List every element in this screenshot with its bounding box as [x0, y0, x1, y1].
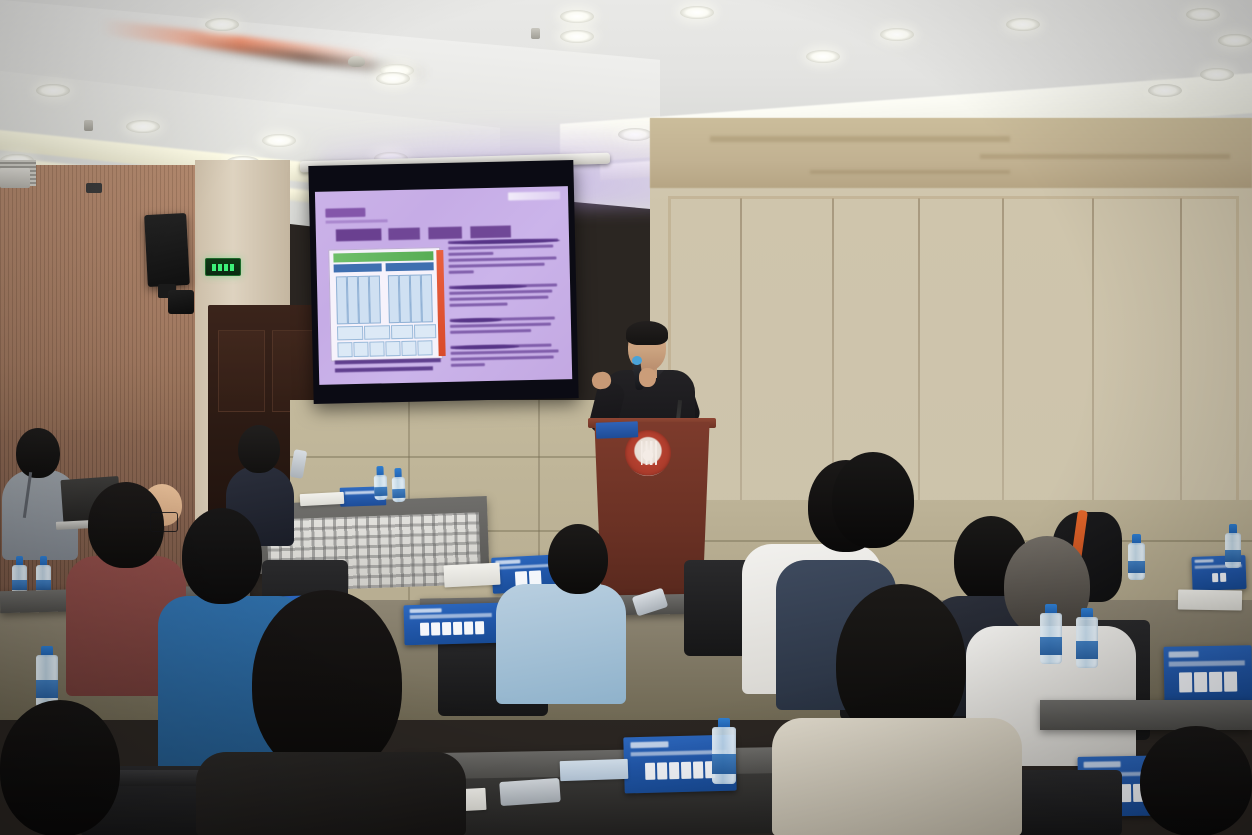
sprinkler-head	[84, 120, 93, 131]
downlight	[560, 10, 594, 23]
marble-vein	[710, 136, 1010, 142]
downlight	[205, 18, 239, 31]
marble-inset-frame	[668, 196, 1239, 532]
placard-chongqing-jiaotong	[1164, 645, 1252, 705]
podium-nameplate	[596, 421, 639, 438]
placard-org-line	[410, 613, 493, 618]
diagram-block	[414, 324, 436, 338]
placard-logo	[409, 608, 442, 613]
audience-head	[16, 428, 60, 478]
bottle-label	[392, 489, 405, 498]
projector-screen	[308, 160, 578, 404]
bottle-label	[1225, 550, 1241, 562]
diagram-block	[391, 325, 413, 339]
audience-torso	[496, 584, 626, 704]
bottle-label	[712, 754, 736, 773]
water-bottle[interactable]	[1225, 524, 1241, 568]
downlight	[1218, 34, 1252, 47]
downlight	[1006, 18, 1040, 31]
paper-notepad	[300, 492, 345, 506]
slide-headline	[336, 225, 511, 241]
placard-org-line	[1169, 660, 1245, 666]
diagram-icon-block	[369, 341, 384, 356]
downlight	[880, 28, 914, 41]
bottle-label	[36, 580, 51, 591]
audience-head	[238, 425, 280, 473]
downlight	[126, 120, 160, 133]
bottle-body	[712, 727, 736, 784]
bottle-body	[1128, 543, 1145, 580]
bottle-body	[1225, 533, 1241, 568]
downlight	[36, 84, 70, 97]
audience-head	[182, 508, 262, 604]
bottle-label	[36, 680, 58, 698]
water-bottle[interactable]	[1076, 608, 1098, 668]
slide-architecture-diagram	[328, 247, 443, 362]
paper-notepad	[560, 759, 629, 781]
diagram-icon-block	[385, 341, 400, 356]
paper-notepad	[443, 563, 500, 588]
water-bottle[interactable]	[1040, 604, 1062, 664]
eyeglasses	[150, 512, 178, 532]
downlight	[262, 134, 296, 147]
placard-logo	[1084, 762, 1121, 769]
emergency-exit-sign	[205, 258, 241, 276]
wall-speaker	[144, 213, 190, 287]
diagram-icon-block	[401, 341, 416, 356]
diagram-icon-block	[337, 342, 352, 357]
audience-head	[548, 524, 608, 594]
audience-head	[252, 590, 402, 776]
marble-vein	[980, 154, 1230, 159]
downlight	[680, 6, 714, 19]
water-bottle[interactable]	[1128, 534, 1145, 580]
smoke-detector	[348, 56, 365, 67]
paper-notepad	[1178, 589, 1242, 610]
slide-university-logo	[508, 191, 560, 200]
bottle-label	[1128, 561, 1145, 574]
bottle-label	[12, 580, 27, 591]
placard-meishu-xueyuan	[403, 603, 500, 645]
conference-hall-photo	[0, 0, 1252, 835]
diagram-block	[337, 326, 363, 341]
bottle-label	[1076, 641, 1098, 658]
downlight	[1200, 68, 1234, 81]
placard-logo	[1195, 559, 1213, 563]
diagram-subheader-left	[334, 263, 382, 272]
diagram-subheader-right	[386, 262, 434, 271]
placard-logo	[630, 741, 668, 748]
slide-title-underline	[326, 219, 388, 223]
diagram-icon-block	[353, 342, 368, 357]
water-bottle[interactable]	[373, 466, 387, 500]
marble-header-band	[650, 118, 1252, 188]
presenter-hair	[626, 321, 668, 345]
water-bottle[interactable]	[391, 468, 405, 502]
presenter-right-hand	[639, 368, 656, 387]
wall-speaker-secondary	[168, 290, 194, 314]
sprinkler-head	[531, 28, 540, 39]
bottle-label	[374, 487, 387, 496]
bottle-body	[374, 475, 388, 500]
placard-logo	[1169, 651, 1199, 657]
slide-bullet-column	[448, 238, 563, 370]
foreground-table-right	[1040, 700, 1252, 730]
diagram-accent-bar	[436, 250, 445, 356]
audience-head	[832, 452, 914, 548]
placard-name-text	[1196, 570, 1242, 584]
camera	[86, 183, 102, 193]
smartphone[interactable]	[499, 778, 561, 806]
bottle-body	[1076, 617, 1098, 668]
water-bottle[interactable]	[712, 718, 736, 784]
placard-name-text	[1171, 671, 1245, 693]
diagram-column	[369, 275, 381, 323]
bottle-body	[392, 477, 406, 502]
downlight	[806, 50, 840, 63]
downlight	[376, 72, 410, 85]
audience-head	[1140, 726, 1252, 835]
slide-surface	[315, 186, 572, 385]
door-panel	[218, 330, 265, 412]
diagram-header-band	[333, 251, 433, 262]
ceiling-projector	[0, 168, 30, 188]
diagram-column	[421, 274, 433, 322]
downlight	[560, 30, 594, 43]
slide-footer-text	[335, 358, 441, 376]
audience-head	[0, 700, 120, 835]
slide-section-title	[325, 208, 365, 218]
audience-torso	[772, 718, 1022, 835]
bottle-label	[1040, 637, 1062, 654]
audience-torso	[196, 752, 466, 835]
diagram-icon-block	[417, 340, 432, 355]
placard-name-text	[412, 621, 493, 637]
marble-vein	[810, 170, 1010, 174]
water-bottle[interactable]	[36, 646, 58, 708]
diagram-block	[364, 325, 390, 340]
downlight	[1186, 8, 1220, 21]
bottle-body	[1040, 613, 1062, 664]
downlight	[1148, 84, 1182, 97]
